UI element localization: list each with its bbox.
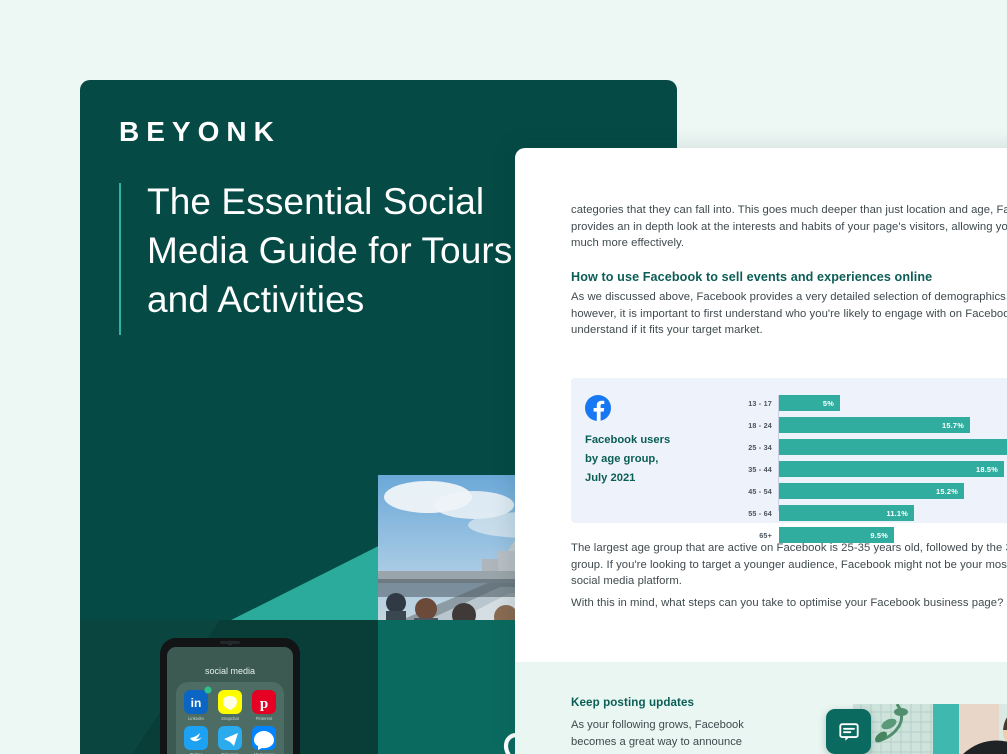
title-accent-rule [119, 183, 121, 335]
chart-bar-row: 55 - 6411.1% [711, 505, 1007, 521]
chart-bar-value: 11.1% [886, 509, 908, 518]
chart-bar: 11.1% [779, 505, 914, 521]
chart-bar-row: 45 - 5415.2% [711, 483, 1007, 499]
svg-text:in: in [191, 696, 202, 710]
band-heading: Keep posting updates [571, 696, 694, 709]
lower-content-band: Keep posting updates As your following g… [515, 662, 1007, 754]
paragraph-mid: As we discussed above, Facebook provides… [571, 289, 1007, 339]
chart-bar-value: 15.7% [942, 421, 964, 430]
chart-title: Facebook users by age group, July 2021 [585, 431, 705, 488]
chat-widget-button[interactable] [826, 709, 871, 754]
band-paragraph: As your following grows, Facebook become… [571, 717, 771, 754]
chart-bar: 15.7% [779, 417, 970, 433]
svg-text:Snapchat: Snapchat [221, 716, 240, 721]
cover-title-block: The Essential Social Media Guide for Tou… [119, 177, 539, 335]
chart-bar-track: 11.1% [778, 505, 1007, 521]
section-heading-facebook: How to use Facebook to sell events and e… [571, 270, 1007, 284]
paragraph-top: categories that they can fall into. This… [571, 202, 1007, 252]
chart-bar-track: 15.7% [778, 417, 1007, 433]
svg-text:Pinterest: Pinterest [256, 716, 273, 721]
svg-text:LinkedIn: LinkedIn [188, 716, 205, 721]
paragraph-after-chart: The largest age group that are active on… [571, 540, 1007, 590]
chart-bar: 5% [779, 395, 840, 411]
chart-bar: 15.2% [779, 483, 964, 499]
chart-bar-track: 15.2% [778, 483, 1007, 499]
screenshot-root: BEYONK The Essential Social Media Guide … [0, 0, 1007, 754]
svg-text:p: p [260, 696, 268, 712]
chart-bar-track: 18.5% [778, 461, 1007, 477]
chart-bar-value: 5% [823, 399, 834, 408]
chart-bar-row: 18 - 2415.7% [711, 417, 1007, 433]
cover-title: The Essential Social Media Guide for Tou… [147, 177, 539, 335]
chart-bar-value: 9.5% [870, 531, 888, 540]
chart-bar-row: 13 - 175% [711, 395, 1007, 411]
chat-bubble-icon [838, 721, 860, 743]
chart-category-label: 55 - 64 [711, 509, 778, 518]
paragraph-after-chart-2: With this in mind, what steps can you ta… [571, 595, 1007, 612]
chart-bar [779, 439, 1007, 455]
chart-bar-track [778, 439, 1007, 455]
chart-category-label: 13 - 17 [711, 399, 778, 408]
chart-plot-area: 13 - 175%18 - 2415.7%25 - 3435 - 4418.5%… [711, 391, 1007, 513]
facebook-icon [585, 395, 611, 421]
chart-category-label: 25 - 34 [711, 443, 778, 452]
band-photo-office [853, 704, 1007, 754]
beyonk-logo: BEYONK [119, 118, 281, 146]
facebook-age-chart-panel: Facebook users by age group, July 2021 1… [571, 378, 1007, 523]
chart-category-label: 35 - 44 [711, 465, 778, 474]
chart-bar-row: 35 - 4418.5% [711, 461, 1007, 477]
chart-category-label: 65+ [711, 531, 778, 540]
chart-bar-row: 25 - 34 [711, 439, 1007, 455]
photo-phone-social-apps: social media in p LinkedInSnapchatPinter… [80, 620, 378, 754]
chart-bar-track: 5% [778, 395, 1007, 411]
chart-title-line-2: by age group, [585, 450, 705, 469]
chart-title-line-1: Facebook users [585, 431, 705, 450]
svg-text:social media: social media [205, 666, 255, 676]
chart-bar-value: 15.2% [936, 487, 958, 496]
chart-category-label: 18 - 24 [711, 421, 778, 430]
chart-bar: 18.5% [779, 461, 1004, 477]
chart-category-label: 45 - 54 [711, 487, 778, 496]
chart-bar-value: 18.5% [976, 465, 998, 474]
chart-title-line-3: July 2021 [585, 469, 705, 488]
